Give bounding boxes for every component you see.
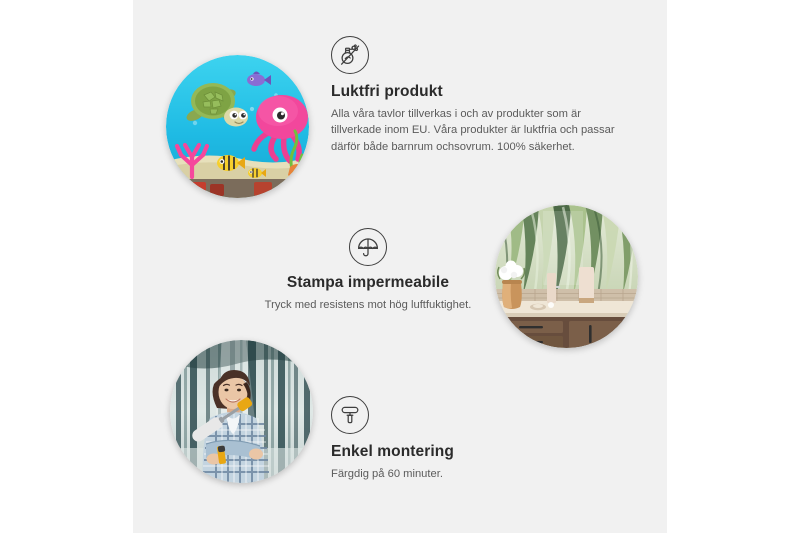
feature-title: Stampa impermeabile: [203, 274, 533, 292]
feature-block-luktfri-produkt: Luktfri produkt Alla våra tavlor tillver…: [331, 36, 633, 156]
underwater-cartoon-scene-photo: [166, 55, 309, 198]
no-fragrance-spray-icon: [331, 36, 369, 74]
umbrella-icon: [349, 228, 387, 266]
feature-title: Luktfri produkt: [331, 83, 633, 101]
page-root: Luktfri produkt Alla våra tavlor tillver…: [0, 0, 800, 533]
woman-with-paint-roller-forest-photo: [170, 340, 313, 483]
feature-title: Enkel montering: [331, 443, 631, 461]
paint-roller-icon: [331, 396, 369, 434]
feature-body: Färgdig på 60 minuter.: [331, 466, 631, 483]
feature-block-enkel-montering: Enkel montering Färgdig på 60 minuter.: [331, 396, 631, 482]
feature-block-stampa-impermeabile: Stampa impermeabile Tryck med resistens …: [203, 228, 533, 313]
feature-body: Alla våra tavlor tillverkas i och av pro…: [331, 106, 633, 156]
feature-body: Tryck med resistens mot hög luftfuktighe…: [203, 297, 533, 314]
content-area: Luktfri produkt Alla våra tavlor tillver…: [133, 0, 667, 533]
